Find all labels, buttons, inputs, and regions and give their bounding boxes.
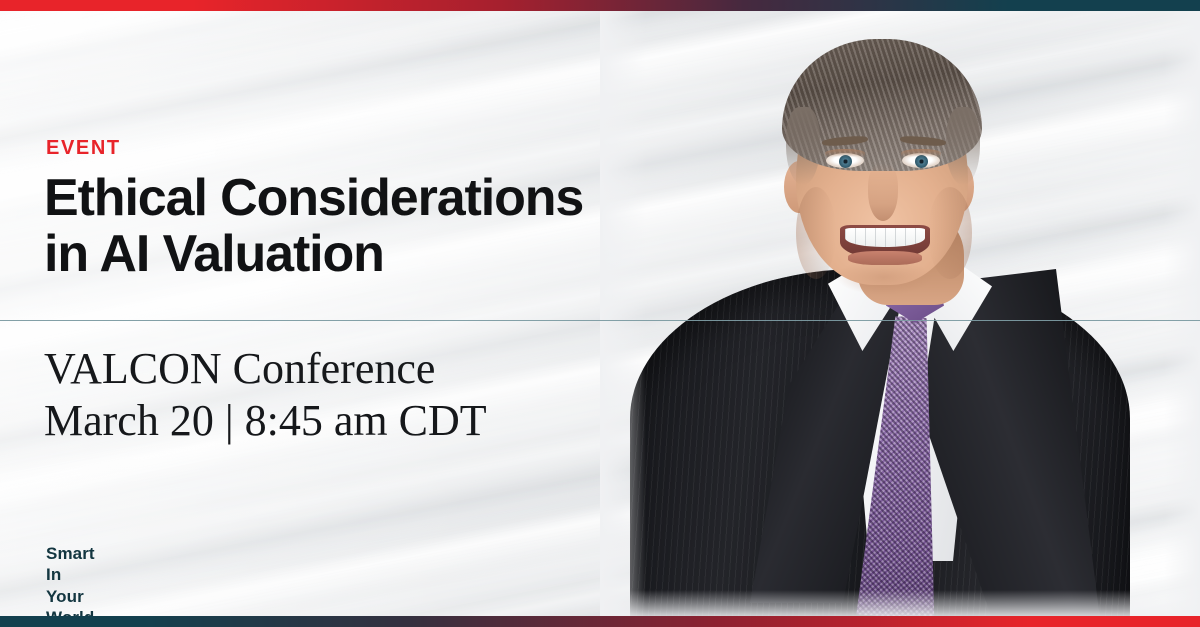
event-type-label: EVENT — [46, 138, 121, 158]
chin-shading — [836, 259, 932, 295]
hair-temple-right — [946, 107, 980, 185]
event-promo-banner: EVENT Ethical Considerations in AI Valua… — [0, 0, 1200, 627]
top-brand-gradient-bar — [0, 0, 1200, 11]
event-datetime: March 20 | 8:45 am CDT — [44, 395, 664, 447]
jaw-shading-right — [928, 187, 972, 279]
eyelid-right — [901, 149, 941, 157]
event-title-line-1: Ethical Considerations — [44, 169, 583, 227]
brand-tagline: Smart In Your World — [46, 543, 95, 627]
event-title: Ethical Considerations in AI Valuation — [44, 170, 684, 282]
hair-temple-left — [786, 107, 820, 185]
nose-icon — [868, 163, 898, 221]
event-title-line-2: in AI Valuation — [44, 226, 684, 282]
section-divider — [0, 320, 1200, 321]
eyelid-left — [825, 149, 865, 157]
brand-tagline-line-1: Smart In — [46, 544, 95, 584]
teeth-icon — [845, 228, 925, 247]
teeth-separations — [845, 228, 925, 247]
conference-name: VALCON Conference — [44, 344, 435, 393]
jaw-shading-left — [796, 187, 836, 279]
event-details: VALCON Conference March 20 | 8:45 am CDT — [44, 343, 664, 447]
portrait-stage — [600, 11, 1200, 616]
speaker-portrait-photo — [600, 11, 1200, 616]
bottom-brand-gradient-bar — [0, 616, 1200, 627]
